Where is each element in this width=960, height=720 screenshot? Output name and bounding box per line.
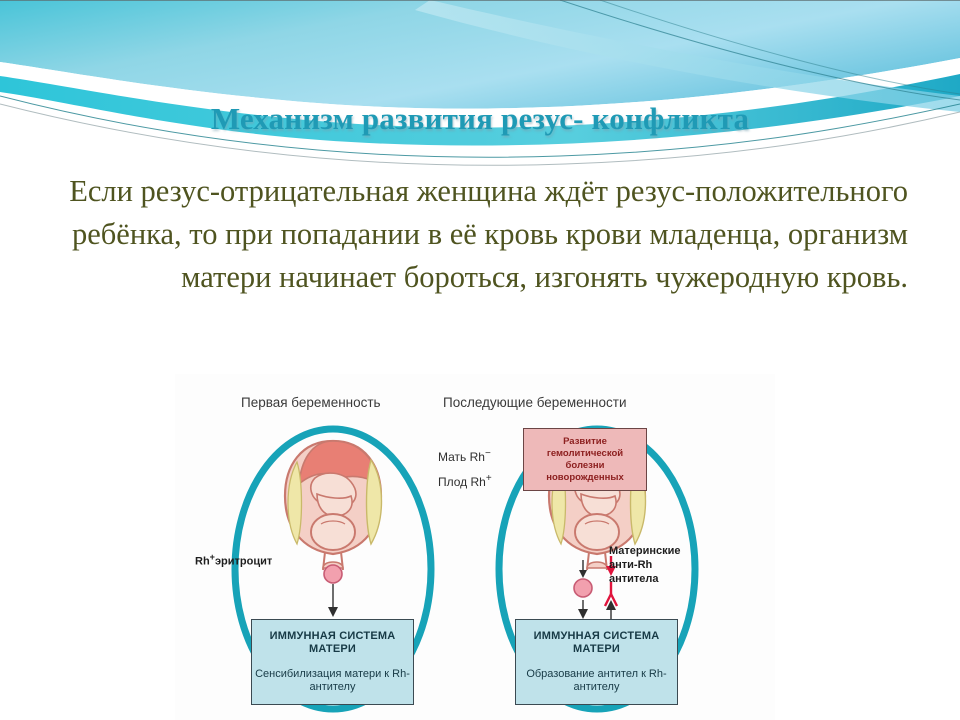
- left-down-arrow: [328, 584, 338, 617]
- right-immune-system-box: ИММУННАЯ СИСТЕМА МАТЕРИ Образование анти…: [515, 619, 678, 705]
- slide: Механизм развития резус- конфликта Если …: [0, 0, 960, 720]
- antibody-label-line-2: анти-Rh: [609, 558, 681, 572]
- body-paragraph: Если резус-отрицательная женщина ждёт ре…: [28, 170, 908, 299]
- right-immune-box-title: ИММУННАЯ СИСТЕМА МАТЕРИ: [516, 630, 677, 656]
- page-title: Механизм развития резус- конфликта: [0, 101, 960, 137]
- left-immune-box-title: ИММУННАЯ СИСТЕМА МАТЕРИ: [252, 630, 413, 656]
- disease-box-line-1: Развитие: [546, 436, 623, 448]
- right-down-arrow: [578, 600, 588, 619]
- fetus-rh-label: Плод Rh: [438, 475, 486, 489]
- left-immune-box-subtitle: Сенсибилизация матери к Rh-антителу: [252, 668, 413, 694]
- fetus-rh-note: Плод Rh+: [438, 473, 492, 489]
- mother-rh-sign: −: [485, 448, 491, 459]
- left-immune-system-box: ИММУННАЯ СИСТЕМА МАТЕРИ Сенсибилизация м…: [251, 619, 414, 705]
- mother-rh-label: Мать Rh: [438, 450, 485, 464]
- left-erythrocyte-dot: [324, 565, 342, 583]
- disease-box-line-2: гемолитической: [546, 448, 623, 460]
- hemolytic-disease-box: Развитие гемолитической болезни новорожд…: [523, 428, 647, 491]
- fetus-rh-sign: +: [486, 473, 492, 484]
- antibody-label-line-1: Материнские: [609, 544, 681, 558]
- panel-heading-subsequent-pregnancies: Последующие беременности: [443, 395, 627, 410]
- maternal-antibody-label: Материнские анти-Rh антитела: [609, 544, 681, 586]
- rh-conflict-diagram: Первая беременность Последующие беременн…: [175, 374, 775, 720]
- erythrocyte-label-prefix: Rh: [195, 556, 210, 568]
- panel-heading-first-pregnancy: Первая беременность: [241, 395, 381, 410]
- erythrocyte-label: Rh+эритроцит: [195, 552, 272, 568]
- erythrocyte-label-suffix: эритроцит: [215, 556, 272, 568]
- right-immune-box-subtitle: Образование антител к Rh-антителу: [516, 668, 677, 694]
- disease-box-line-3: болезни: [546, 460, 623, 472]
- header-wave-decoration: [0, 0, 960, 180]
- disease-box-line-4: новорожденных: [546, 472, 623, 484]
- mother-rh-note: Мать Rh−: [438, 448, 491, 464]
- left-womb-illustration: [285, 441, 382, 570]
- antibody-label-line-3: антитела: [609, 572, 681, 586]
